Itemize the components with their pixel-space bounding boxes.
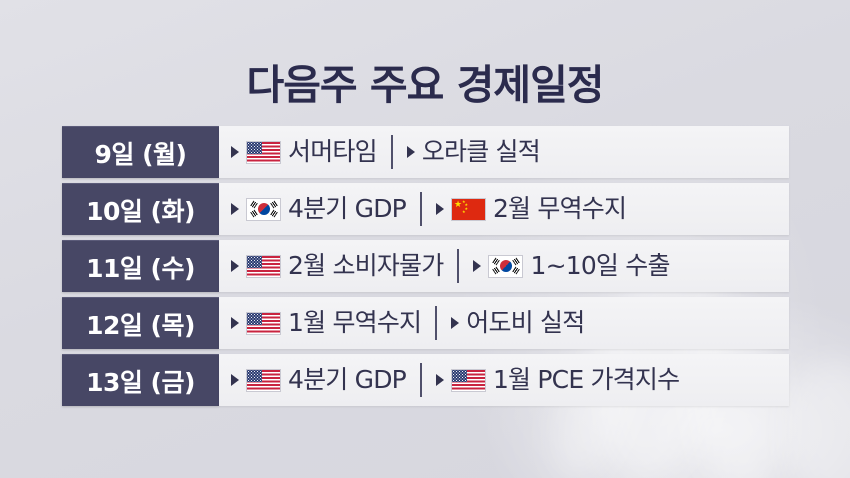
event-divider [435,306,437,340]
us-flag [246,369,281,392]
event-item: 1~10일 수출 [473,251,669,281]
event-item: 4분기 GDP [231,365,406,395]
date-label: 9일 (월) [95,135,187,171]
kr-flag-trigram [270,210,278,218]
kr-flag-trigram [250,201,258,209]
background-texture-blob [780,360,850,478]
events-cell: 4분기 GDP1월 PCE 가격지수 [219,354,789,406]
us-flag-canton [452,370,467,382]
schedule-table: 9일 (월)서머타임오라클 실적10일 (화)4분기 GDP★★★★★2월 무역… [62,126,789,406]
us-flag-canton [247,142,262,154]
event-item: 오라클 실적 [407,137,540,167]
kr-flag-trigram [270,201,278,209]
cn-flag-small-star: ★ [462,210,466,214]
bullet-triangle-icon [231,260,239,272]
us-flag [451,369,486,392]
schedule-row: 11일 (수)2월 소비자물가1~10일 수출 [62,240,789,292]
us-flag-canton [247,313,262,325]
event-label: 1~10일 수출 [530,251,669,281]
event-label: 1월 무역수지 [288,308,421,338]
event-divider [457,249,459,283]
event-label: 4분기 GDP [288,194,406,224]
kr-flag-trigram [512,267,520,275]
kr-flag-taegeuk [258,203,270,215]
event-item: 서머타임 [231,137,377,167]
infographic-board: 다음주 주요 경제일정 9일 (월)서머타임오라클 실적10일 (화)4분기 G… [0,0,850,478]
event-item: 2월 소비자물가 [231,251,443,281]
event-divider [391,135,393,169]
cn-flag-large-star: ★ [454,201,462,210]
date-cell: 9일 (월) [62,126,219,178]
kr-flag-trigram [492,267,500,275]
event-label: 2월 소비자물가 [288,251,443,281]
event-divider [420,192,422,226]
events-cell: 서머타임오라클 실적 [219,126,789,178]
kr-flag-taegeuk [500,260,512,272]
cn-flag: ★★★★★ [451,198,486,221]
kr-flag [488,255,523,278]
bullet-triangle-icon [436,203,444,215]
schedule-row: 10일 (화)4분기 GDP★★★★★2월 무역수지 [62,183,789,235]
bullet-triangle-icon [231,317,239,329]
event-item: 어도비 실적 [451,308,584,338]
page-title: 다음주 주요 경제일정 [0,62,850,108]
event-item: 1월 PCE 가격지수 [436,365,679,395]
event-item: 4분기 GDP [231,194,406,224]
events-cell: 1월 무역수지어도비 실적 [219,297,789,349]
event-item: 1월 무역수지 [231,308,421,338]
event-label: 서머타임 [288,137,377,167]
date-cell: 11일 (수) [62,240,219,292]
us-flag-canton [247,370,262,382]
event-label: 4분기 GDP [288,365,406,395]
date-cell: 12일 (목) [62,297,219,349]
date-label: 10일 (화) [86,192,195,228]
date-label: 12일 (목) [86,306,195,342]
bullet-triangle-icon [451,317,459,329]
us-flag [246,312,281,335]
date-label: 13일 (금) [86,363,195,399]
kr-flag [246,198,281,221]
event-label: 2월 무역수지 [493,194,626,224]
date-cell: 10일 (화) [62,183,219,235]
event-label: 1월 PCE 가격지수 [493,365,679,395]
bullet-triangle-icon [407,146,415,158]
bullet-triangle-icon [473,260,481,272]
event-divider [420,363,422,397]
us-flag-canton [247,256,262,268]
date-cell: 13일 (금) [62,354,219,406]
kr-flag-trigram [512,258,520,266]
bullet-triangle-icon [231,146,239,158]
schedule-row: 9일 (월)서머타임오라클 실적 [62,126,789,178]
event-item: ★★★★★2월 무역수지 [436,194,626,224]
us-flag [246,141,281,164]
events-cell: 4분기 GDP★★★★★2월 무역수지 [219,183,789,235]
kr-flag-trigram [492,258,500,266]
kr-flag-trigram [250,210,258,218]
events-cell: 2월 소비자물가1~10일 수출 [219,240,789,292]
date-label: 11일 (수) [86,249,195,285]
bullet-triangle-icon [436,374,444,386]
bullet-triangle-icon [231,374,239,386]
event-label: 어도비 실적 [466,308,584,338]
us-flag [246,255,281,278]
bullet-triangle-icon [231,203,239,215]
schedule-row: 12일 (목)1월 무역수지어도비 실적 [62,297,789,349]
schedule-row: 13일 (금)4분기 GDP1월 PCE 가격지수 [62,354,789,406]
event-label: 오라클 실적 [422,137,540,167]
